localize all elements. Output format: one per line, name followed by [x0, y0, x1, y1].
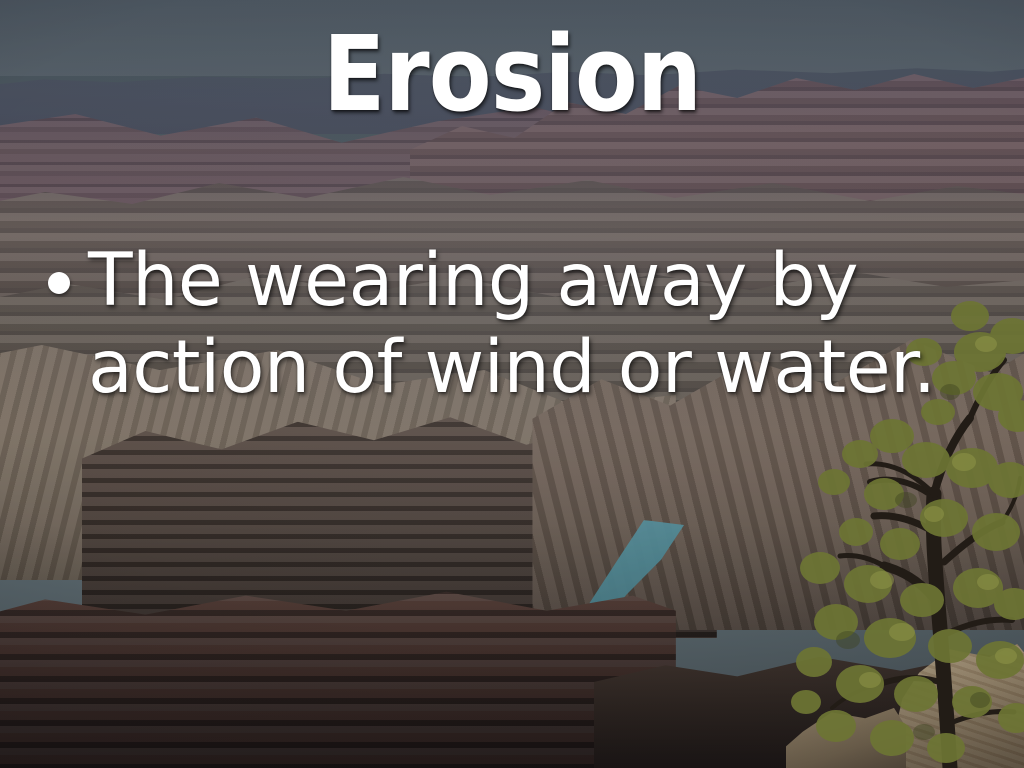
bullet-list: The wearing away by action of wind or wa…	[48, 238, 976, 412]
slide-title: Erosion	[61, 18, 962, 130]
foreground-cliff-left	[0, 588, 676, 768]
presentation-slide: Erosion The wearing away by action of wi…	[0, 0, 1024, 768]
bullet-marker-icon	[48, 272, 70, 294]
boulder-corner	[894, 644, 1024, 768]
bullet-item-text: The wearing away by action of wind or wa…	[88, 238, 976, 412]
